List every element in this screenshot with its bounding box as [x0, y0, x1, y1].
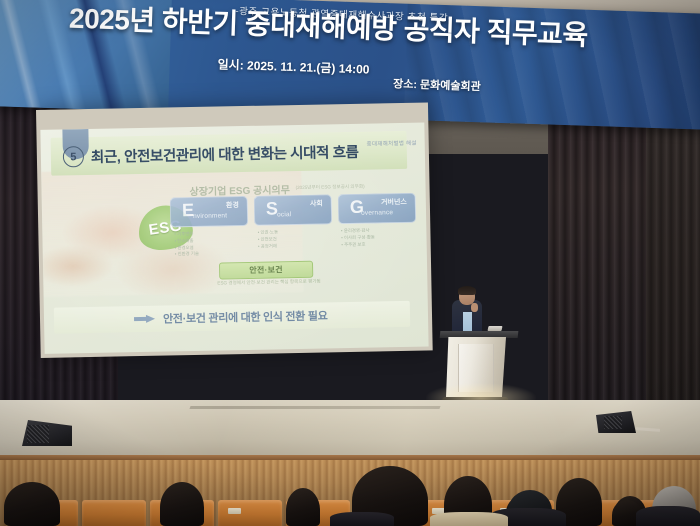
speaker-hand	[471, 303, 478, 312]
banner-location: 장소: 문화예술회관	[393, 75, 481, 94]
speaker-hair	[458, 286, 476, 295]
lecture-hall-photo: -광주 고용노동청 광역중대재해수사과장 초청 특강- 2025년 하반기 중대…	[0, 0, 700, 526]
esg-bullets-governance: • 윤리경영·감사 • 이사회 구성·활동 • 주주권 보호	[341, 227, 415, 258]
audience-shoulder	[330, 512, 394, 526]
esg-box-social: S ocial 사회	[254, 194, 333, 225]
banner-datetime: 일시: 2025. 11. 21.(금) 14:00	[217, 56, 369, 78]
safety-highlight-label: 안전·보건	[249, 264, 283, 276]
esg-bullet-columns: • 기후변화 • 탄소배출 • 환경오염 • 친환경 기술 • 인권·노동 • …	[174, 227, 415, 262]
safety-note-text: ESG 경영에서 안전·보건 관리는 핵심 항목으로 평가됨	[217, 279, 321, 288]
esg-word-social: ocial	[277, 211, 292, 218]
stage-monitor-grill-right	[604, 416, 622, 429]
presentation-slide: ESG 5 최근, 안전보건관리에 대한 변화는 시대적 흐름 중대재해처벌법 …	[40, 123, 428, 354]
esg-box-environment: E nvironment 환경	[170, 196, 249, 227]
seat-number-plate	[228, 508, 241, 514]
audience-shoulder	[430, 512, 508, 526]
esg-bullets-social: • 인권·노동 • 안전보건 • 공정거래	[258, 228, 332, 259]
slide-corner-note: 중대재해처벌법 해설	[367, 139, 417, 148]
esg-bullets-environment: • 기후변화 • 탄소배출 • 환경오염 • 친환경 기술	[174, 230, 248, 261]
slide-conclusion-bar: 안전·보건 관리에 대한 인식 전환 필요	[54, 301, 410, 334]
esg-korean-environment: 환경	[226, 200, 239, 210]
audience-seat	[82, 500, 146, 526]
audience-head	[4, 482, 60, 526]
esg-word-governance: overnance	[361, 209, 393, 217]
bullet: • 친환경 기술	[175, 250, 248, 258]
esg-headline-note: (2025년부터 ESG 정보공시 의무화)	[295, 184, 364, 191]
esg-box-governance: G overnance 거버넌스	[338, 193, 417, 224]
audience-head	[286, 488, 320, 526]
audience-area	[0, 440, 700, 526]
projection-screen: ESG 5 최근, 안전보건관리에 대한 변화는 시대적 흐름 중대재해처벌법 …	[36, 102, 433, 357]
podium-front-panel	[458, 344, 494, 392]
podium-top-surface	[440, 331, 519, 338]
esg-korean-governance: 거버넌스	[381, 197, 407, 207]
audience-head	[160, 482, 204, 526]
slide-conclusion-text: 안전·보건 관리에 대한 인식 전환 필요	[163, 307, 328, 326]
stage-floor-seam	[189, 406, 440, 409]
safety-highlight-box: 안전·보건	[219, 261, 313, 280]
bullet: • 주주권 보호	[341, 240, 414, 248]
esg-korean-social: 사회	[310, 199, 323, 209]
bullet: • 공정거래	[258, 242, 331, 250]
esg-box-row: E nvironment 환경 S ocial 사회 G overnance 거…	[170, 193, 417, 228]
arrow-right-icon	[134, 314, 156, 323]
audience-shoulder	[636, 506, 700, 526]
esg-word-environment: nvironment	[193, 212, 227, 220]
